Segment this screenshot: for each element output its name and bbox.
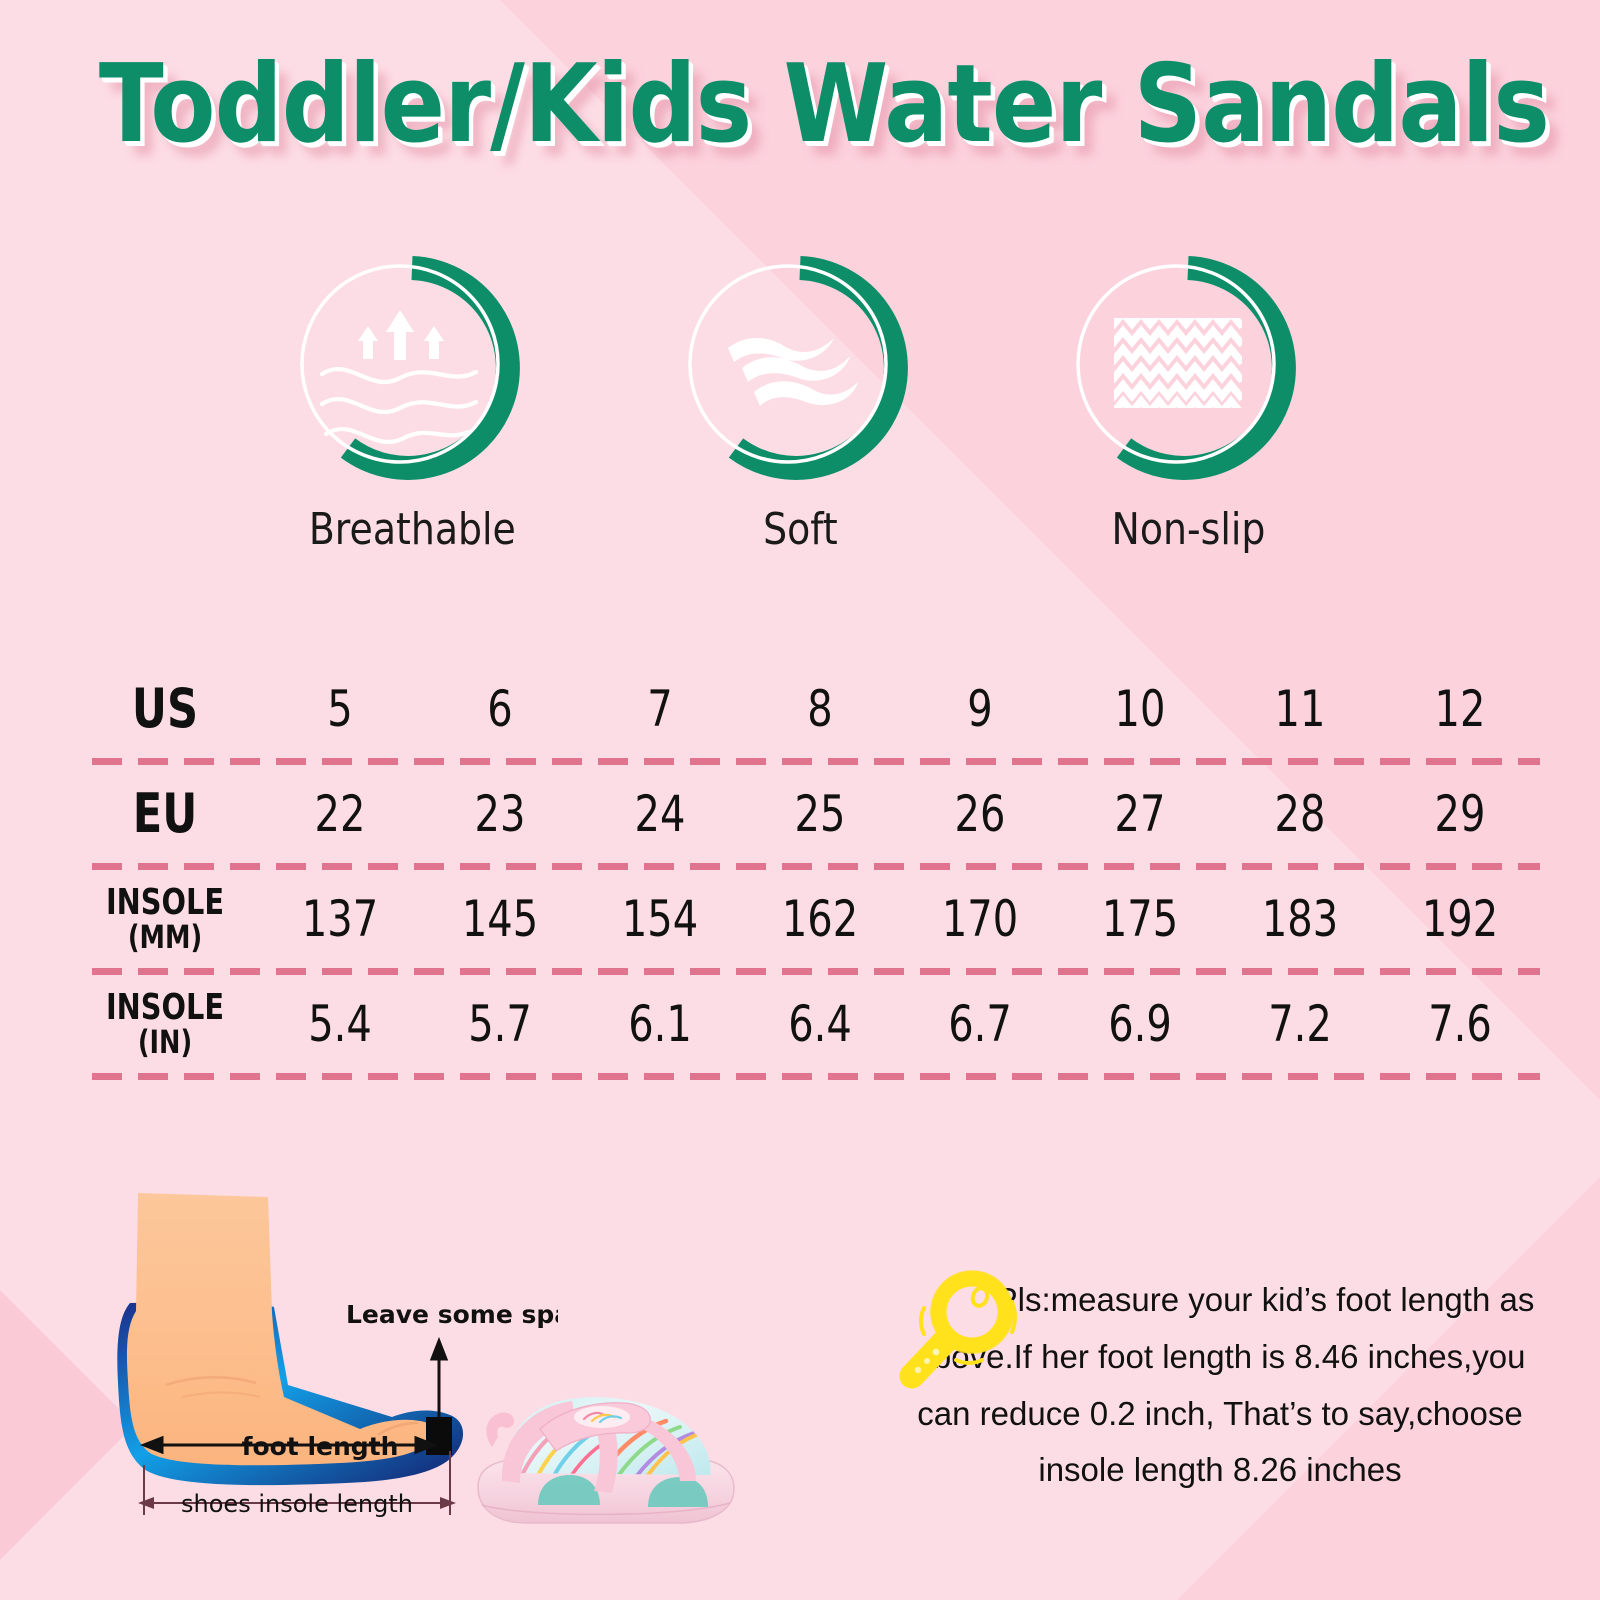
row-label-text: INSOLE xyxy=(106,882,224,923)
table-cell: 9 xyxy=(916,680,1044,738)
soft-waves-icon xyxy=(684,252,916,484)
row-divider xyxy=(92,758,1540,765)
size-chart-table: US 5 6 7 8 9 10 11 12 EU 22 23 24 25 26 xyxy=(70,660,1540,1080)
feature-label: Soft xyxy=(763,504,838,555)
table-cell: 6.4 xyxy=(756,995,884,1053)
table-cell: 11 xyxy=(1236,680,1364,738)
measurement-note: Pls:measure your kid’s foot length as ab… xyxy=(900,1272,1540,1499)
row-label: INSOLE (IN) xyxy=(89,990,241,1058)
non-slip-tread-icon xyxy=(1072,252,1304,484)
feature-label: Breathable xyxy=(309,504,516,555)
feature-soft: Soft xyxy=(670,252,930,555)
row-label: INSOLE (MM) xyxy=(89,885,241,953)
table-cell: 26 xyxy=(916,785,1044,843)
magnifying-glass-icon xyxy=(894,1264,1024,1404)
table-cell: 145 xyxy=(436,890,564,948)
row-divider xyxy=(92,968,1540,975)
sandal-product-image xyxy=(452,1355,752,1545)
feature-list: Breathable Soft xyxy=(0,252,1600,555)
row-label-unit: (IN) xyxy=(89,1026,241,1058)
table-cell: 5.7 xyxy=(436,995,564,1053)
table-cell: 154 xyxy=(596,890,724,948)
row-label-unit: (MM) xyxy=(89,921,241,953)
table-cell: 25 xyxy=(756,785,884,843)
table-row-eu: EU 22 23 24 25 26 27 28 29 xyxy=(70,765,1540,863)
infographic-page: Toddler/Kids Water Sandals xyxy=(0,0,1600,1600)
table-cell: 22 xyxy=(276,785,404,843)
table-cell: 24 xyxy=(596,785,724,843)
leave-space-label: Leave some space xyxy=(346,1300,558,1329)
page-title: Toddler/Kids Water Sandals xyxy=(0,48,1600,161)
table-cell: 27 xyxy=(1076,785,1204,843)
table-cell: 175 xyxy=(1076,890,1204,948)
table-cell: 6.1 xyxy=(596,995,724,1053)
row-label: US xyxy=(89,682,241,736)
table-cell: 28 xyxy=(1236,785,1364,843)
table-row-insole-in: INSOLE (IN) 5.4 5.7 6.1 6.4 6.7 6.9 7.2 … xyxy=(70,975,1540,1073)
table-cell: 183 xyxy=(1236,890,1364,948)
table-cell: 7 xyxy=(596,680,724,738)
table-cell: 10 xyxy=(1076,680,1204,738)
breathable-airflow-icon xyxy=(296,252,528,484)
table-cell: 8 xyxy=(756,680,884,738)
table-cell: 7.2 xyxy=(1236,995,1364,1053)
table-cell: 6 xyxy=(436,680,564,738)
insole-length-label: shoes insole length xyxy=(181,1490,413,1518)
table-cell: 137 xyxy=(276,890,404,948)
table-cell: 162 xyxy=(756,890,884,948)
feature-label: Non-slip xyxy=(1111,504,1265,555)
table-cell: 6.9 xyxy=(1076,995,1204,1053)
row-label-text: INSOLE xyxy=(106,987,224,1028)
table-cell: 7.6 xyxy=(1396,995,1524,1053)
feature-non-slip: Non-slip xyxy=(1058,252,1318,555)
table-row-us: US 5 6 7 8 9 10 11 12 xyxy=(70,660,1540,758)
table-cell: 6.7 xyxy=(916,995,1044,1053)
page-title-text: Toddler/Kids Water Sandals xyxy=(99,48,1549,161)
table-cell: 5.4 xyxy=(276,995,404,1053)
row-divider xyxy=(92,863,1540,870)
feature-breathable: Breathable xyxy=(282,252,542,555)
leave-space-block xyxy=(426,1417,452,1455)
table-cell: 12 xyxy=(1396,680,1524,738)
table-cell: 5 xyxy=(276,680,404,738)
table-cell: 192 xyxy=(1396,890,1524,948)
table-cell: 29 xyxy=(1396,785,1524,843)
row-label: EU xyxy=(89,787,241,841)
row-divider xyxy=(92,1073,1540,1080)
table-cell: 170 xyxy=(916,890,1044,948)
foot-length-label: foot length xyxy=(242,1432,399,1461)
table-row-insole-mm: INSOLE (MM) 137 145 154 162 170 175 183 … xyxy=(70,870,1540,968)
table-cell: 23 xyxy=(436,785,564,843)
